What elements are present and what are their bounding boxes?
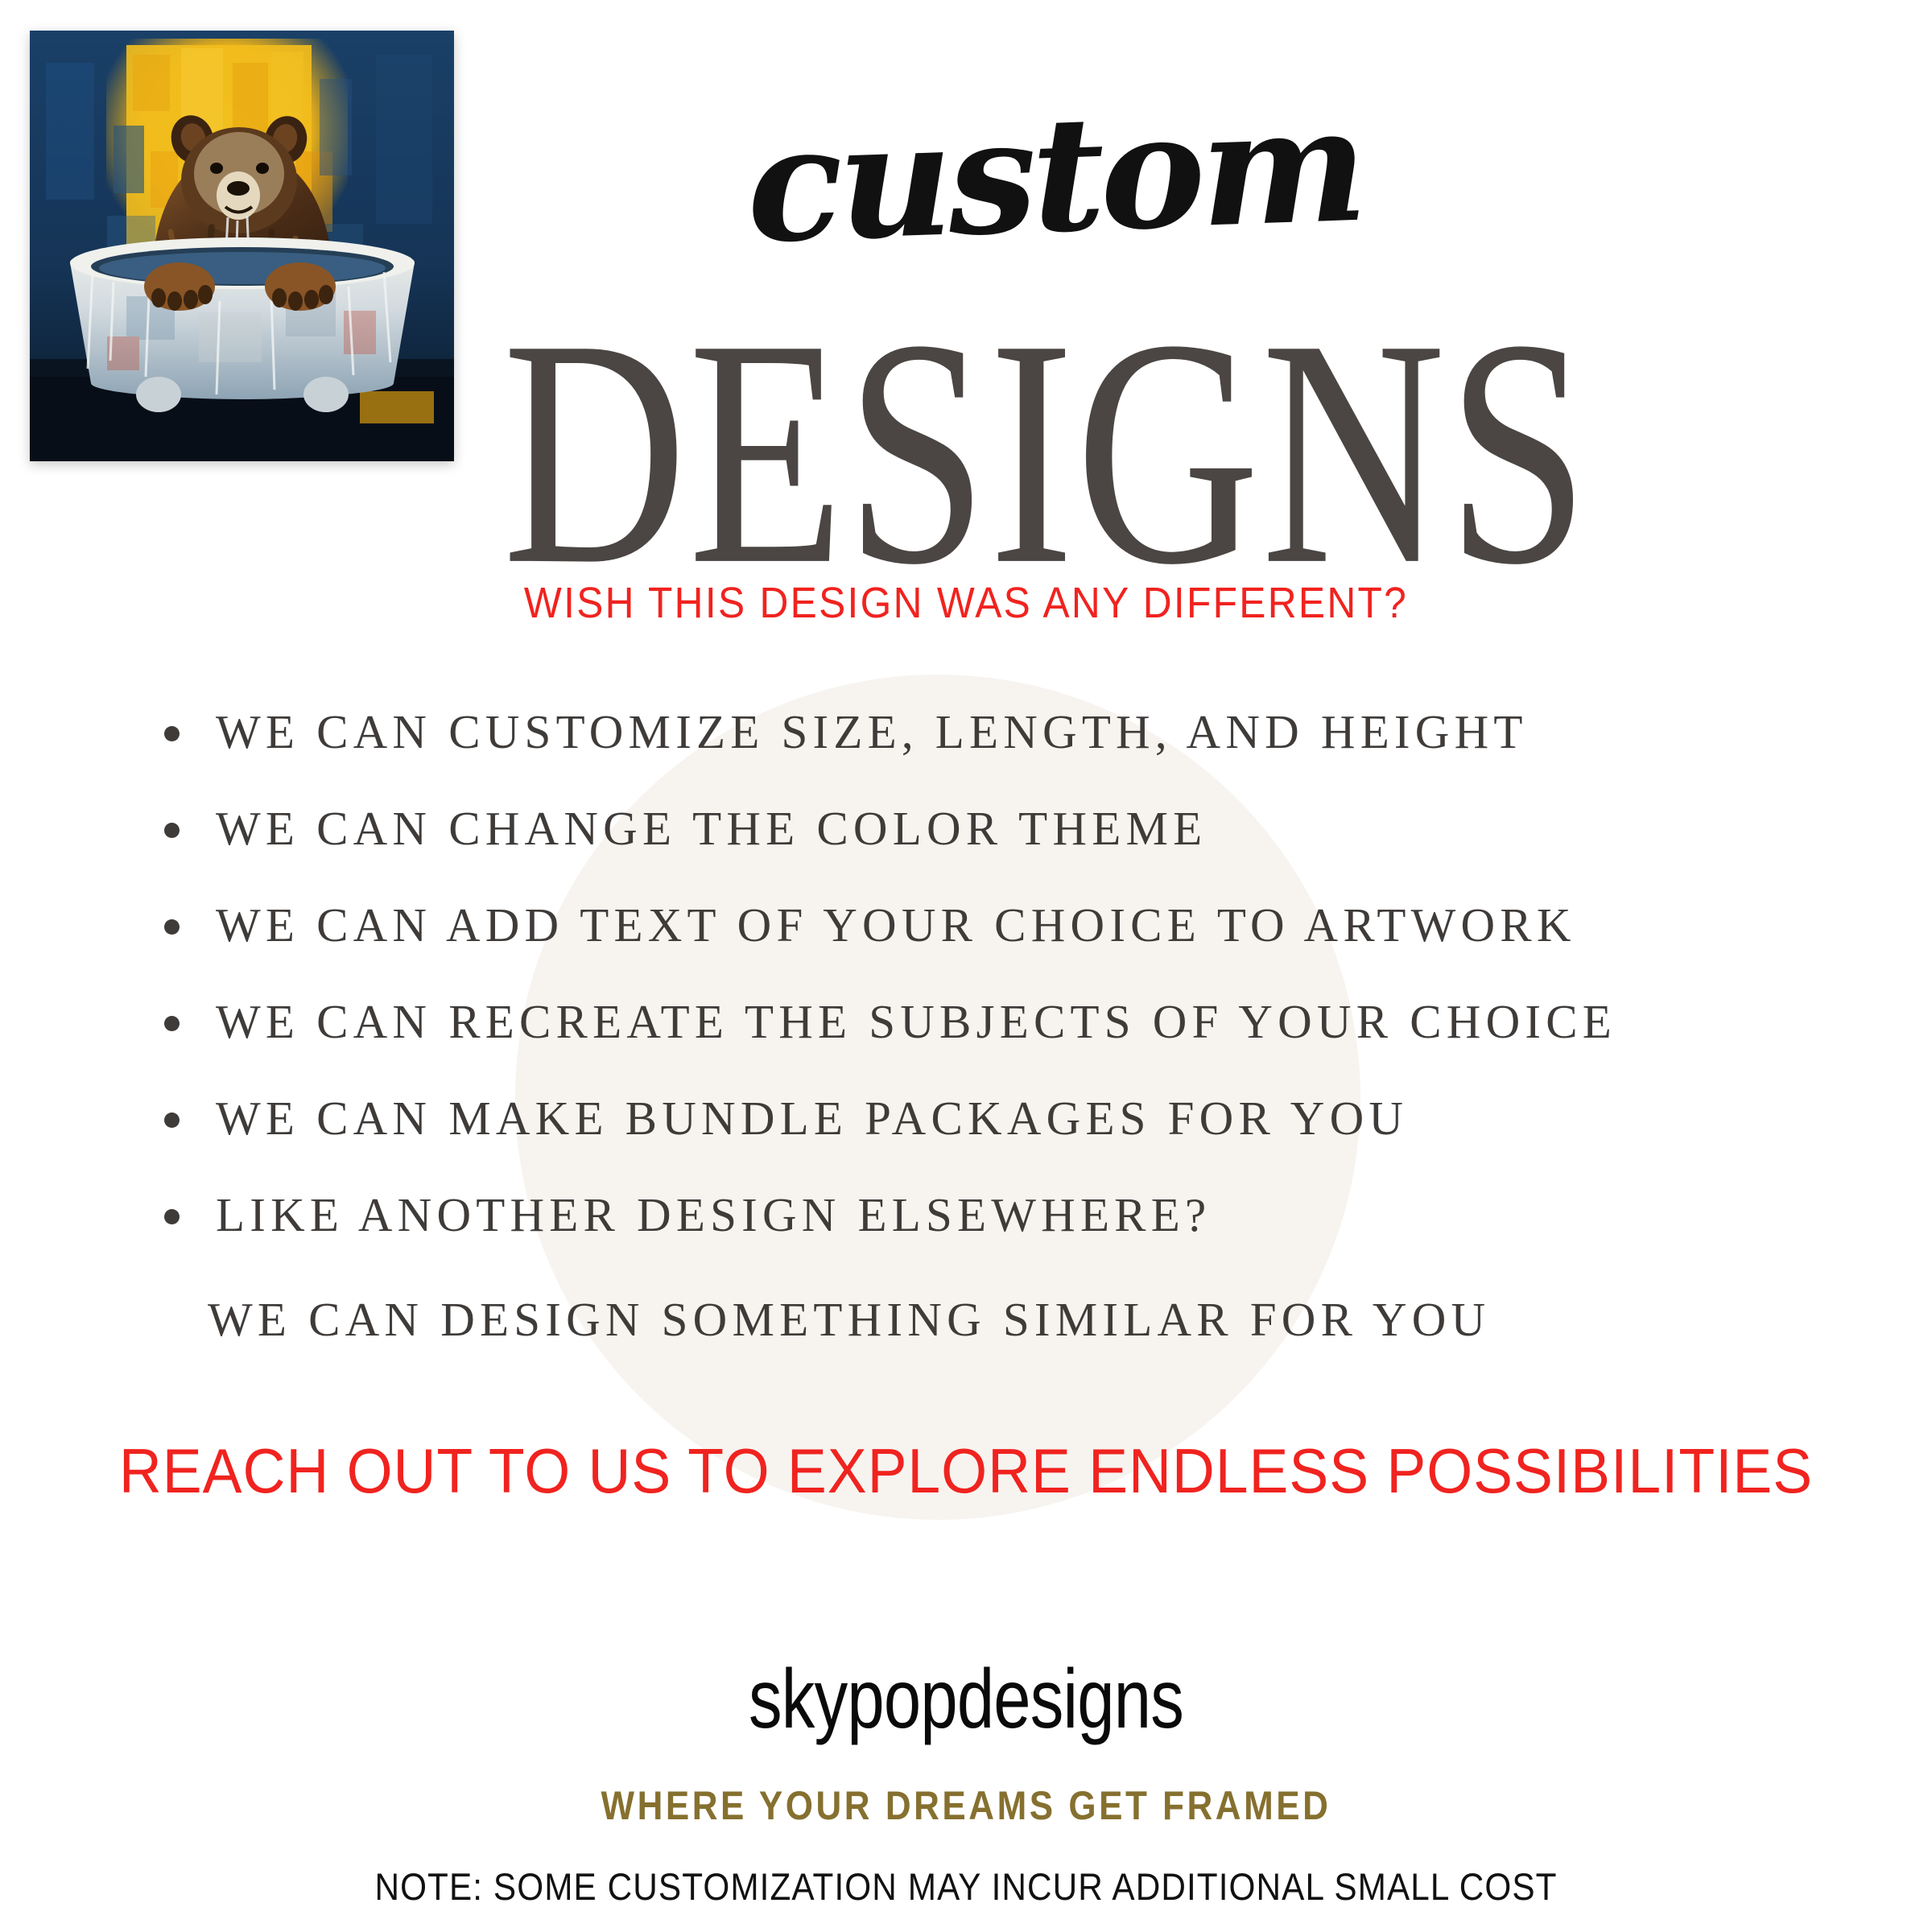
list-item-label: WE CAN ADD TEXT OF YOUR CHOICE TO ARTWOR…: [216, 902, 1576, 949]
brand-logo-text: skypopdesigns: [193, 1652, 1739, 1748]
list-item: WE CAN MAKE BUNDLE PACKAGES FOR YOU: [161, 1095, 1835, 1191]
brand-tagline: WHERE YOUR DREAMS GET FRAMED: [116, 1782, 1816, 1829]
bullet-dot-icon: [164, 1209, 180, 1224]
page-title-designs: DESIGNS: [119, 320, 1932, 586]
list-item-label: WE CAN CUSTOMIZE SIZE, LENGTH, AND HEIGH…: [216, 708, 1528, 756]
subtitle-question: WISH THIS DESIGN WAS ANY DIFFERENT?: [77, 578, 1855, 628]
call-to-action-text[interactable]: REACH OUT TO US TO EXPLORE ENDLESS POSSI…: [58, 1435, 1874, 1508]
list-item: LIKE ANOTHER DESIGN ELSEWHERE?: [161, 1191, 1835, 1288]
customization-options-list: WE CAN CUSTOMIZE SIZE, LENGTH, AND HEIGH…: [161, 708, 1835, 1288]
list-item: WE CAN CHANGE THE COLOR THEME: [161, 805, 1835, 902]
list-item: WE CAN CUSTOMIZE SIZE, LENGTH, AND HEIGH…: [161, 708, 1835, 805]
list-item-label: LIKE ANOTHER DESIGN ELSEWHERE?: [216, 1191, 1211, 1239]
list-item-label: WE CAN MAKE BUNDLE PACKAGES FOR YOU: [216, 1095, 1408, 1142]
footer-note: NOTE: SOME CUSTOMIZATION MAY INCUR ADDIT…: [97, 1864, 1835, 1909]
list-item-label: WE CAN RECREATE THE SUBJECTS OF YOUR CHO…: [216, 998, 1616, 1046]
bullet-dot-icon: [164, 919, 180, 935]
bullet-dot-icon: [164, 1113, 180, 1128]
bullet-dot-icon: [164, 823, 180, 838]
list-item: WE CAN RECREATE THE SUBJECTS OF YOUR CHO…: [161, 998, 1835, 1095]
continuation-line: WE CAN DESIGN SOMETHING SIMILAR FOR YOU: [208, 1292, 1490, 1348]
bullet-dot-icon: [164, 1016, 180, 1031]
bullet-dot-icon: [164, 726, 180, 741]
list-item: WE CAN ADD TEXT OF YOUR CHOICE TO ARTWOR…: [161, 902, 1835, 998]
list-item-label: WE CAN CHANGE THE COLOR THEME: [216, 805, 1207, 852]
